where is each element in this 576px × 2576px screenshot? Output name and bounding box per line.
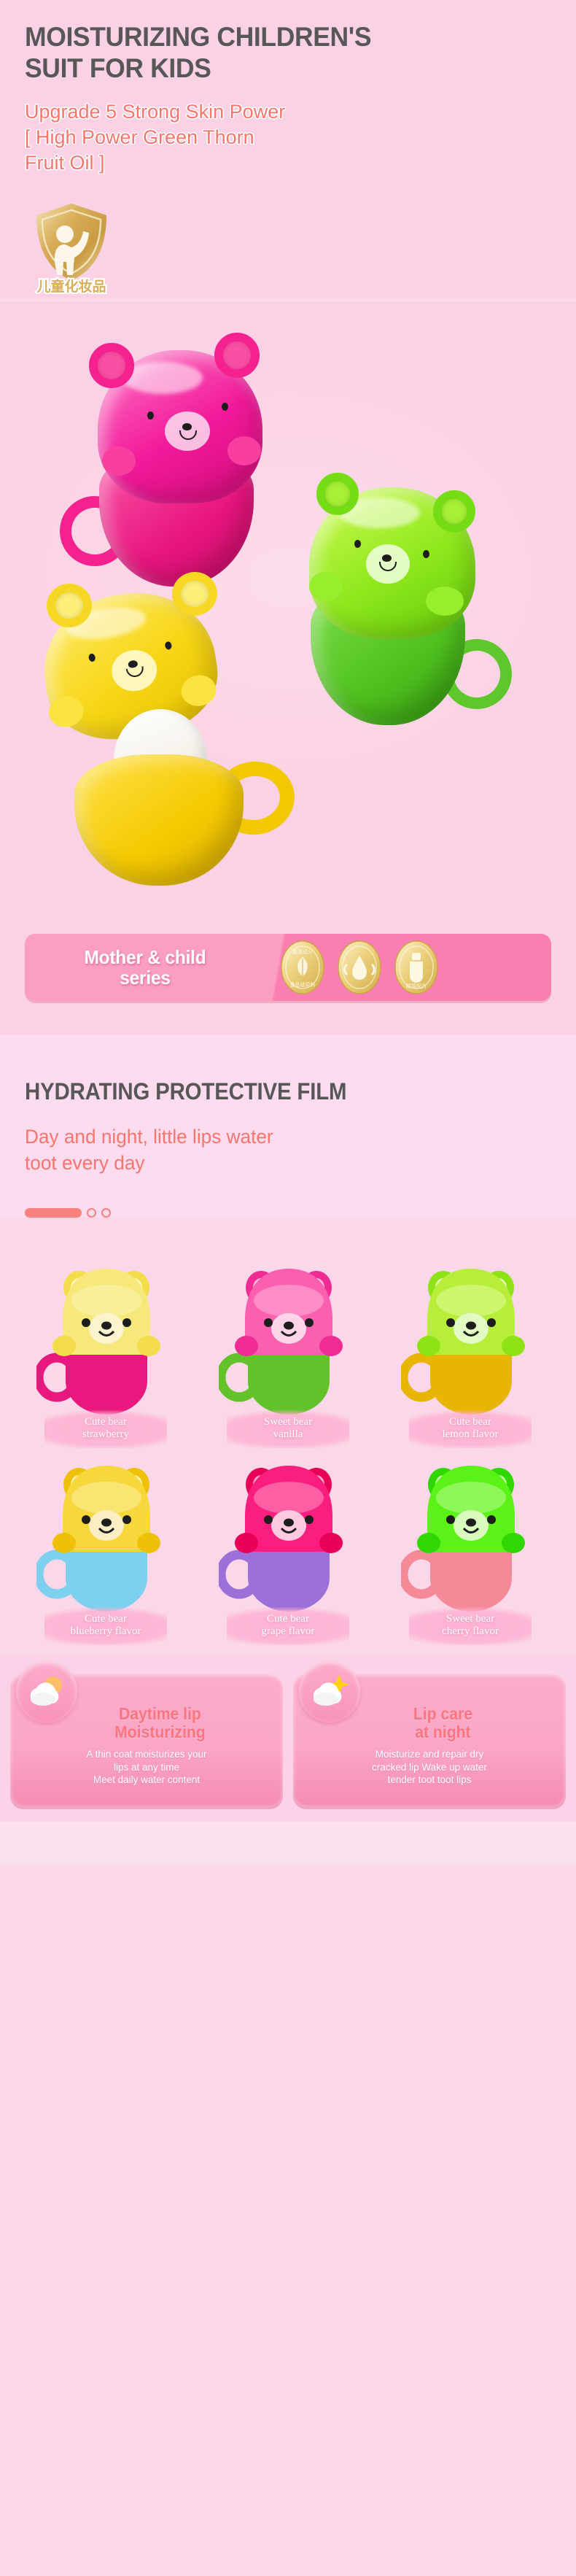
series-banner-title: Mother & child series (32, 947, 258, 988)
carousel-dot-2[interactable] (87, 1208, 96, 1218)
feature-card-body-line-1: A thin coat moisturizes your (86, 1749, 206, 1760)
bear-ear-right (214, 333, 260, 378)
svg-text:植萃成分: 植萃成分 (292, 948, 313, 955)
feature-card-title-line-2: at night (415, 1722, 470, 1741)
feature-card-body-line-2: cracked lip Wake up water (372, 1762, 487, 1773)
flavor-line-2: vanilla (273, 1428, 303, 1440)
flavor-line-2: lemon flavor (442, 1428, 498, 1440)
product-flavor-label: Cute bear blueberry flavor (44, 1607, 167, 1646)
feature-card-body-line-3: tender toot toot lips (388, 1774, 472, 1785)
feature-card-body-line-3: Meet daily water content (93, 1774, 200, 1785)
carousel-dot-active[interactable] (25, 1208, 82, 1218)
plant-extract-medal-icon: 植萃成分 食品级原料 (280, 940, 325, 995)
feature-card-daytime[interactable]: Daytime lip Moisturizing A thin coat moi… (10, 1674, 283, 1806)
series-banner-zone: Mother & child series 植萃成分 食品级原料 (0, 915, 576, 1034)
hero-product-photo (0, 302, 576, 915)
flavor-line-2: blueberry flavor (70, 1625, 141, 1637)
product-flavor-label: Sweet bear vanilla (227, 1410, 349, 1449)
product-cell[interactable]: Cute bear lemon flavor (379, 1256, 561, 1453)
bear-lipbalm-icon (401, 1455, 540, 1612)
product-image (36, 1258, 175, 1419)
product-cell[interactable]: Cute bear blueberry flavor (15, 1453, 197, 1649)
section-subtitle-line-2: toot every day (25, 1152, 145, 1174)
series-banner-badges: 植萃成分 食品级原料 精简配方 (280, 940, 439, 995)
series-banner: Mother & child series 植萃成分 食品级原料 (25, 934, 551, 1001)
svg-text:儿童化妆品: 儿童化妆品 (36, 278, 106, 294)
series-banner-title-line-1: Mother & child (84, 946, 206, 968)
flavor-line-1: Sweet bear (446, 1613, 494, 1625)
product-cell[interactable]: Cute bear strawberry (15, 1256, 197, 1453)
certification-badge: 儿童化妆品 (31, 201, 118, 298)
feature-card-body-line-1: Moisturize and repair dry (375, 1749, 484, 1760)
flavor-line-1: Cute bear (267, 1613, 309, 1625)
flavor-line-1: Cute bear (449, 1416, 491, 1428)
bear-ear-right (433, 490, 475, 533)
feature-card-body-line-2: lips at any time (114, 1762, 179, 1773)
hero-subtitle: Upgrade 5 Strong Skin Power [ High Power… (25, 99, 551, 176)
hero-subtitle-line-2: [ High Power Green Thorn (25, 126, 254, 148)
hero-subtitle-line-3: Fruit Oil ] (25, 152, 105, 174)
cup-body (74, 754, 244, 886)
product-flavor-label: Cute bear lemon flavor (409, 1410, 532, 1449)
hero-bear-pink (86, 346, 268, 587)
product-image (401, 1258, 540, 1419)
water-drop-medal-icon (337, 940, 382, 995)
product-grid: Cute bear strawberry (15, 1256, 561, 1649)
flavor-line-1: Sweet bear (264, 1416, 312, 1428)
product-grid-zone: Cute bear strawberry (0, 1218, 576, 1655)
feature-card-title: Daytime lip Moisturizing (28, 1705, 265, 1741)
hero-section: MOISTURIZING CHILDREN'S SUIT FOR KIDS Up… (0, 0, 576, 298)
badge-label-cn: 儿童化妆品 (36, 278, 106, 294)
product-image (401, 1455, 540, 1616)
page-title: MOISTURIZING CHILDREN'S SUIT FOR KIDS (25, 22, 530, 85)
product-flavor-label: Sweet bear cherry flavor (409, 1607, 532, 1646)
feature-card-title: Lip care at night (311, 1705, 548, 1741)
feature-card-title-line-2: Moisturizing (114, 1722, 206, 1741)
product-image (36, 1455, 175, 1616)
product-flavor-label: Cute bear strawberry (44, 1410, 167, 1449)
carousel-dot-3[interactable] (101, 1208, 111, 1218)
hero-bear-yellow-open (44, 594, 262, 886)
page-title-line-2: SUIT FOR KIDS (25, 53, 211, 83)
series-banner-title-line-2: series (120, 967, 171, 989)
feature-card-title-line-1: Lip care (413, 1704, 472, 1723)
product-flavor-label: Cute bear grape flavor (227, 1607, 349, 1646)
bear-lipbalm-icon (401, 1258, 540, 1415)
section-title: HYDRATING PROTECTIVE FILM (25, 1078, 509, 1105)
product-cell[interactable]: Cute bear grape flavor (197, 1453, 379, 1649)
page-footer-spacer (0, 1822, 576, 1864)
product-cell[interactable]: Sweet bear vanilla (197, 1256, 379, 1453)
hero-bear-green (300, 484, 483, 725)
section-subtitle-line-1: Day and night, little lips water (25, 1126, 273, 1148)
product-image (219, 1455, 357, 1616)
section-subtitle: Day and night, little lips water toot ev… (25, 1124, 535, 1176)
flavor-line-2: strawberry (82, 1428, 129, 1440)
svg-text:食品级原料: 食品级原料 (290, 981, 316, 988)
flavor-line-2: cherry flavor (442, 1625, 499, 1637)
bear-lipbalm-icon (219, 1455, 357, 1612)
flavor-line-1: Cute bear (85, 1613, 127, 1625)
simple-formula-medal-icon: 精简配方 (394, 940, 439, 995)
feature-card-night[interactable]: Lip care at night Moisturize and repair … (293, 1674, 566, 1806)
product-cell[interactable]: Sweet bear cherry flavor (379, 1453, 561, 1649)
feature-card-title-line-1: Daytime lip (119, 1704, 201, 1723)
hero-subtitle-line-1: Upgrade 5 Strong Skin Power (25, 101, 285, 123)
bear-ear-left (316, 473, 359, 515)
carousel-indicator[interactable] (25, 1208, 551, 1218)
feature-card-body: Moisturize and repair dry cracked lip Wa… (300, 1748, 559, 1787)
product-image (219, 1258, 357, 1419)
children-cosmetics-shield-icon: 儿童化妆品 (31, 201, 112, 294)
bear-lipbalm-icon (36, 1258, 175, 1415)
flavor-line-1: Cute bear (85, 1416, 127, 1428)
svg-text:精简配方: 精简配方 (406, 983, 427, 989)
feature-card-body: A thin coat moisturizes your lips at any… (17, 1748, 276, 1787)
feature-cards-zone: Daytime lip Moisturizing A thin coat moi… (0, 1655, 576, 1822)
page-title-line-1: MOISTURIZING CHILDREN'S (25, 22, 371, 52)
bear-lipbalm-icon (36, 1455, 175, 1612)
bear-ear-left (89, 343, 134, 388)
bear-lipbalm-icon (219, 1258, 357, 1415)
hydrating-film-section: HYDRATING PROTECTIVE FILM Day and night,… (0, 1034, 576, 1218)
flavor-line-2: grape flavor (262, 1625, 315, 1637)
product-detail-page: MOISTURIZING CHILDREN'S SUIT FOR KIDS Up… (0, 0, 576, 1864)
